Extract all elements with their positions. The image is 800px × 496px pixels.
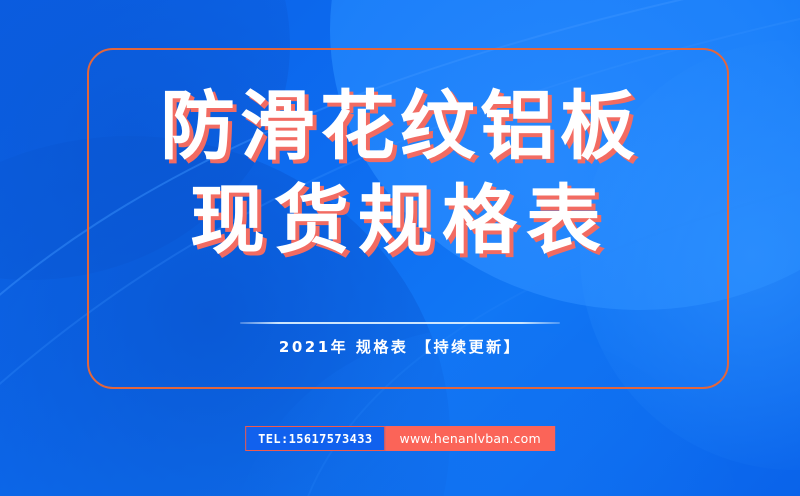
subtitle-divider (240, 322, 560, 324)
headline-line-2: 现货规格表 (0, 178, 800, 262)
headline-block: 防滑花纹铝板 现货规格表 (0, 84, 800, 262)
contact-bar: TEL:15617573433 www.henanlvban.com (245, 426, 555, 451)
website-badge[interactable]: www.henanlvban.com (386, 426, 555, 451)
telephone-badge[interactable]: TEL:15617573433 (245, 426, 385, 451)
subtitle-text: 2021年 规格表 【持续更新】 (0, 336, 800, 357)
poster-banner: 防滑花纹铝板 现货规格表 2021年 规格表 【持续更新】 TEL:156175… (0, 0, 800, 496)
subtitle-block: 2021年 规格表 【持续更新】 (0, 322, 800, 357)
headline-line-1: 防滑花纹铝板 (0, 84, 800, 168)
